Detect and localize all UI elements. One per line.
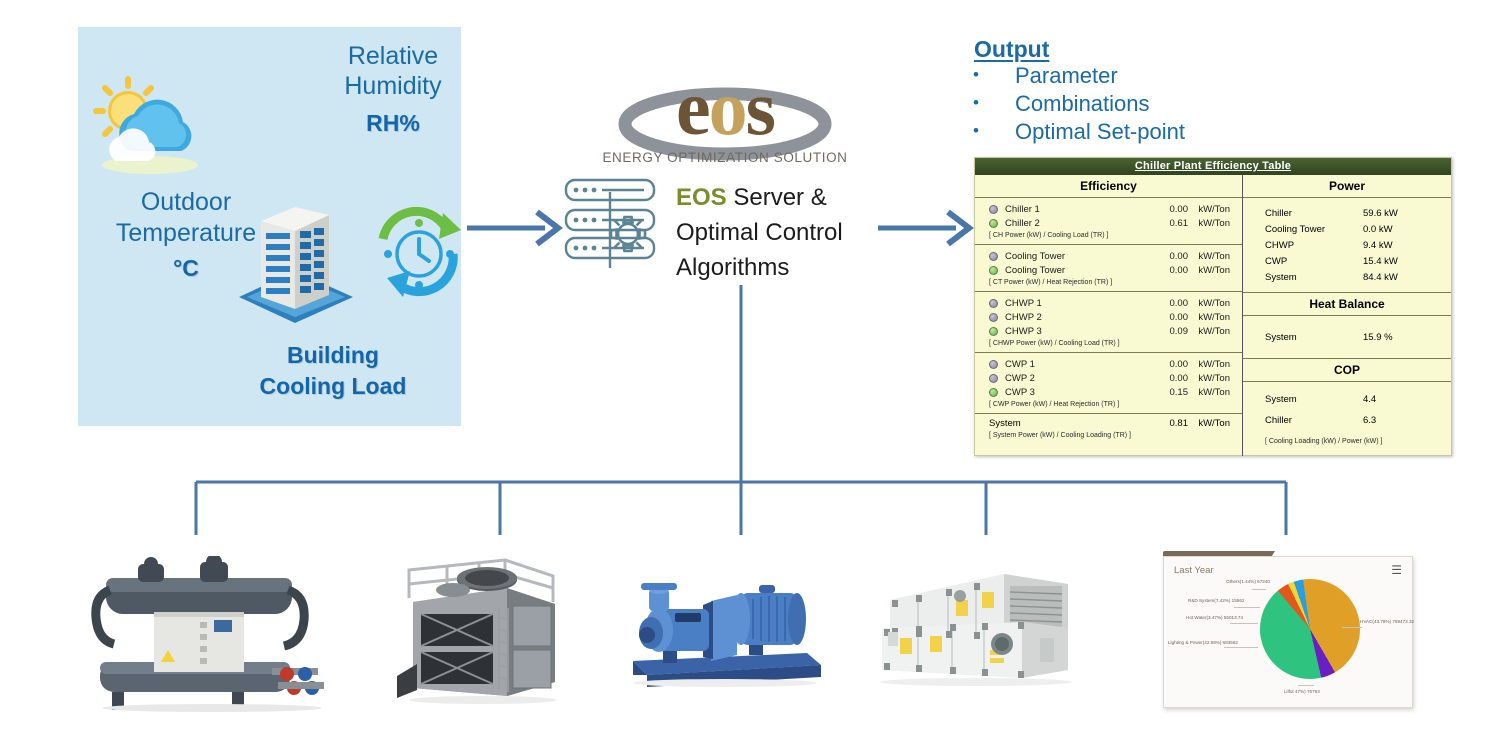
power-header: Power [1243, 175, 1451, 198]
pie-leader-line [1234, 607, 1260, 608]
table-row: Chiller 1 0.00 kW/Ton [975, 202, 1242, 216]
pie-label-others: Others(1.44%) 67240 [1226, 579, 1270, 585]
server-title-line2: Optimal Control [676, 219, 843, 246]
output-list: Parameter Combinations Optimal Set-point [967, 62, 1185, 146]
server-gear-icon [558, 176, 663, 268]
output-item-optimal-setpoint: Optimal Set-point [967, 118, 1185, 145]
table-row: Cooling Tower 0.00 kW/Ton [975, 249, 1242, 263]
output-item-combinations: Combinations [967, 90, 1185, 117]
power-rows: Chiller 59.6 kW Cooling Tower 0.0 kW CHW… [1243, 198, 1451, 293]
pie-leader-line [1224, 647, 1258, 648]
pie-label-lilfot: Lilfot 47%) 76793 [1284, 689, 1320, 695]
pie-leader-line [1298, 685, 1314, 686]
period-label: Last Year [1174, 565, 1214, 576]
arrow-engine-to-output [876, 203, 986, 253]
pie-leader-line [1342, 627, 1362, 628]
eos-tagline: ENERGY OPTIMIZATION SOLUTION [592, 150, 858, 165]
table-row: Cooling Tower 0.0 kW [1243, 221, 1451, 237]
table-row: CWP 15.4 kW [1243, 253, 1451, 269]
efficiency-header: Efficiency [975, 175, 1242, 198]
status-dot-on [989, 266, 998, 275]
server-title: EOS Server & Optimal Control Algorithms [676, 180, 906, 285]
status-dot-off [989, 205, 998, 214]
system-summary-pie-chart [1260, 579, 1370, 689]
table-row: Chiller 2 0.61 kW/Ton [975, 216, 1242, 230]
system-summary-card: Last Year ☰ Others(1.44%) 67240 R&D Syst… [1163, 556, 1413, 708]
table-row: Chiller 59.6 kW [1243, 205, 1451, 221]
chilled-water-pump-image [625, 565, 830, 695]
sun-cloud-icon [86, 73, 216, 183]
pie-leader-line [1230, 623, 1258, 624]
connector-tree [0, 285, 1499, 535]
output-title: Output [974, 36, 1049, 63]
hamburger-menu-icon[interactable]: ☰ [1391, 565, 1402, 575]
pie-label-hot-water: Hot Water(3.47%) 55013.74 [1186, 615, 1243, 621]
table-row: System 84.4 kW [1243, 269, 1451, 285]
efficiency-group-chiller: Chiller 1 0.00 kW/Ton Chiller 2 0.61 kW/… [975, 198, 1242, 245]
air-handling-unit-image [872, 566, 1082, 696]
pie-leader-line [1252, 589, 1266, 590]
table-row: Cooling Tower 0.00 kW/Ton [975, 263, 1242, 277]
table-row: CHWP 9.4 kW [1243, 237, 1451, 253]
server-title-line3: Algorithms [676, 254, 789, 281]
relative-humidity-label: Relative Humidity [293, 41, 493, 101]
pie-label-lighting-power: Lighting & Power(42.59%) 683562 [1168, 640, 1238, 646]
water-cooled-chiller-image [82, 556, 347, 716]
pie-label-hvac: HVAC(43.78%) 759473.32 [1360, 619, 1414, 625]
eos-brand-word: EOS [676, 184, 727, 211]
cooling-tower-image [395, 558, 570, 708]
status-dot-off [989, 252, 998, 261]
status-dot-on [989, 219, 998, 228]
server-title-rest: Server & [727, 184, 827, 211]
output-item-parameter: Parameter [967, 62, 1185, 89]
table-title: Chiller Plant Efficiency Table [975, 158, 1451, 175]
group-note: [ CH Power (kW) / Cooling Load (TR) ] [975, 230, 1242, 242]
pie-label-rd-system: R&D System(7.42%) 15562 [1188, 598, 1244, 604]
diagram-canvas: Relative Humidity RH% Outdoor Temperatur… [0, 0, 1499, 753]
svg-text:eos: eos [676, 64, 775, 151]
relative-humidity-unit: RH% [293, 110, 493, 137]
pie-slices [1260, 579, 1360, 679]
